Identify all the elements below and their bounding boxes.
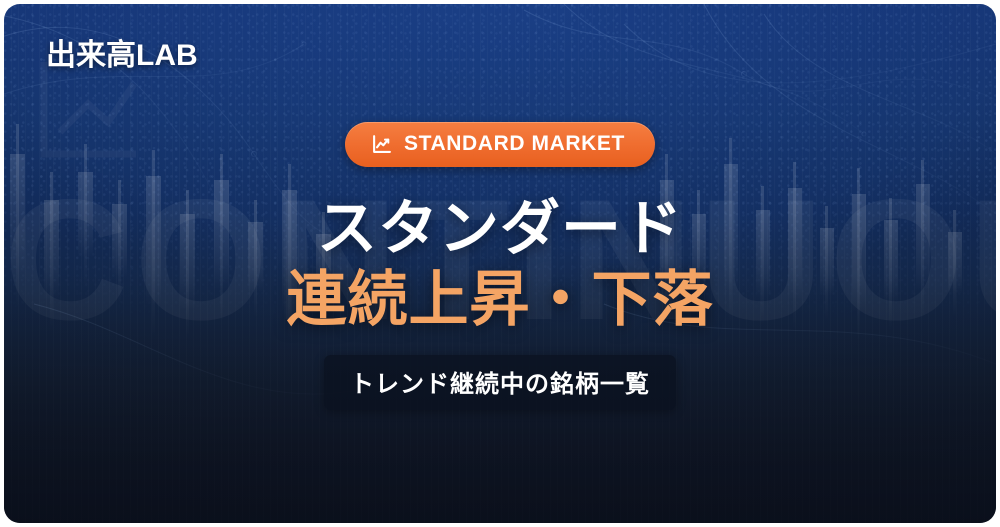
site-logo[interactable]: 出来高LAB <box>46 30 198 74</box>
subtitle-chip: トレンド継続中の銘柄一覧 <box>324 355 676 410</box>
hero-content: STANDARD MARKET スタンダード 連続上昇・下落 トレンド継続中の銘… <box>4 4 996 523</box>
headline-line-1: スタンダード <box>317 197 683 262</box>
market-category-badge-label: STANDARD MARKET <box>404 132 625 156</box>
market-category-badge[interactable]: STANDARD MARKET <box>345 122 655 167</box>
hero-banner: CONTINUOUS 出来高LAB STANDARD MARKET スタンダード… <box>4 4 996 523</box>
headline-line-2: 連続上昇・下落 <box>287 268 714 333</box>
line-chart-icon <box>371 133 393 155</box>
